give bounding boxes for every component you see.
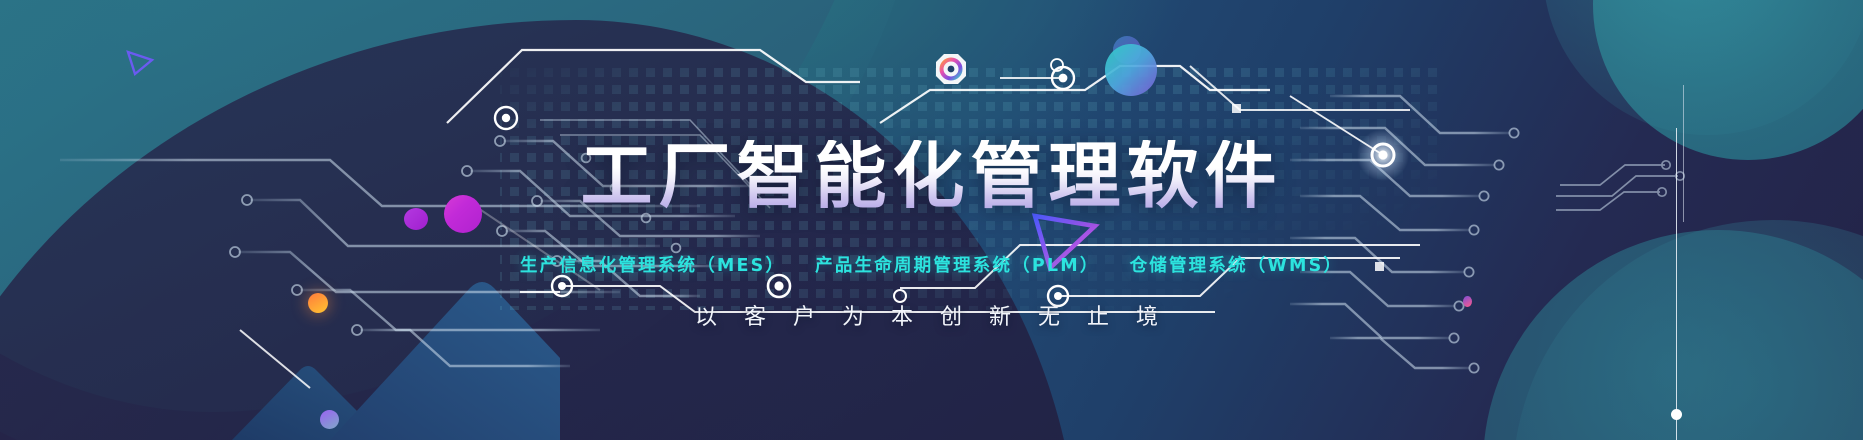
banner-title: 工厂智能化管理软件 xyxy=(580,140,1282,212)
subtitle-item-mes: 生产信息化管理系统（MES） xyxy=(520,252,785,277)
banner-subtitle-list: 生产信息化管理系统（MES） 产品生命周期管理系统（PLM） 仓储管理系统（WM… xyxy=(520,252,1343,277)
banner-tagline: 以 客 户 为 本 创 新 无 止 境 xyxy=(695,299,1168,331)
subtitle-item-wms: 仓储管理系统（WMS） xyxy=(1130,252,1344,277)
subtitle-item-plm: 产品生命周期管理系统（PLM） xyxy=(815,252,1099,277)
hero-banner: 工厂智能化管理软件 生产信息化管理系统（MES） 产品生命周期管理系统（PLM）… xyxy=(0,0,1863,440)
banner-content: 工厂智能化管理软件 生产信息化管理系统（MES） 产品生命周期管理系统（PLM）… xyxy=(0,0,1863,440)
